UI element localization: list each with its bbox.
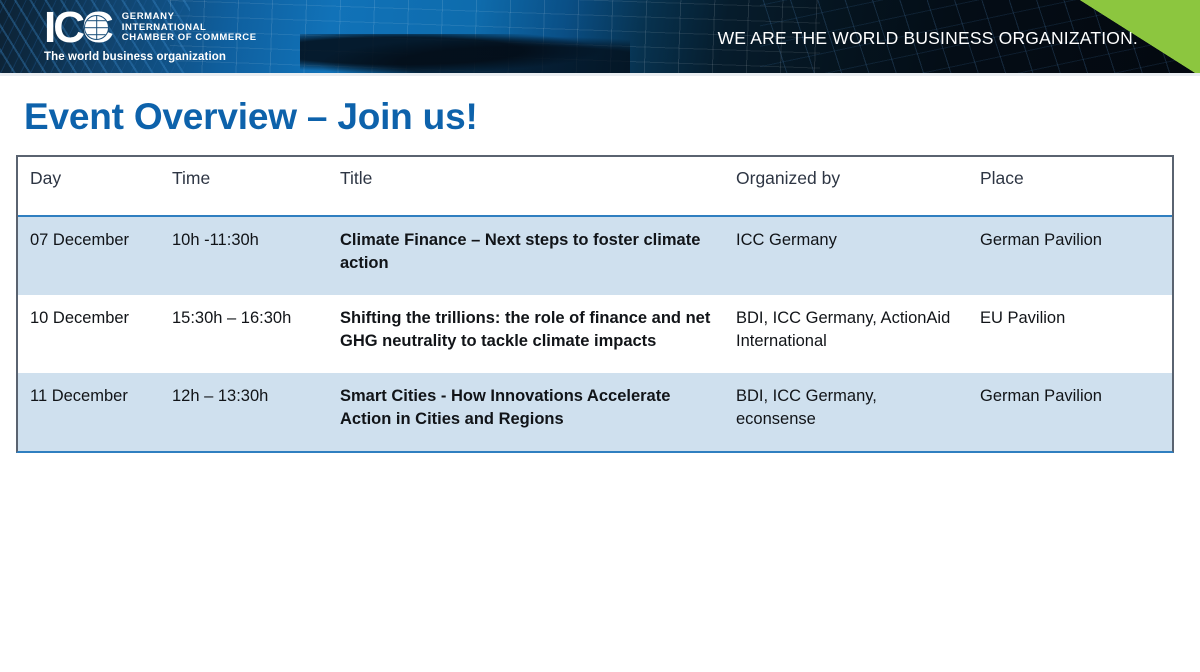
cell-title: Smart Cities - How Innovations Accelerat… <box>328 373 724 451</box>
cell-day: 07 December <box>18 216 160 295</box>
table-row: 10 December 15:30h – 16:30h Shifting the… <box>18 295 1172 373</box>
logo-subtitle-block: GERMANY INTERNATIONAL CHAMBER OF COMMERC… <box>122 12 257 44</box>
cell-day: 11 December <box>18 373 160 451</box>
cell-time: 12h – 13:30h <box>160 373 328 451</box>
table-row: 11 December 12h – 13:30h Smart Cities - … <box>18 373 1172 451</box>
cell-time: 15:30h – 16:30h <box>160 295 328 373</box>
page-title: Event Overview – Join us! <box>24 96 478 138</box>
cell-organized-by: BDI, ICC Germany, ActionAid Internationa… <box>724 295 968 373</box>
column-header-title: Title <box>328 157 724 216</box>
cell-title: Shifting the trillions: the role of fina… <box>328 295 724 373</box>
column-header-time: Time <box>160 157 328 216</box>
cell-place: EU Pavilion <box>968 295 1172 373</box>
table-body: 07 December 10h -11:30h Climate Finance … <box>18 216 1172 451</box>
cell-organized-by: BDI, ICC Germany, econsense <box>724 373 968 451</box>
logo-tagline: The world business organization <box>44 51 257 63</box>
cell-place: German Pavilion <box>968 373 1172 451</box>
table-header-row: Day Time Title Organized by Place <box>18 157 1172 216</box>
event-overview-table: Day Time Title Organized by Place 07 Dec… <box>16 155 1174 453</box>
logo-line-chamber: CHAMBER OF COMMERCE <box>122 33 257 44</box>
slide-banner: ICC GERMANY INTERNATIONAL CHAMBER OF COM… <box>0 0 1200 76</box>
cell-title: Climate Finance – Next steps to foster c… <box>328 216 724 295</box>
column-header-day: Day <box>18 157 160 216</box>
logo-line-germany: GERMANY <box>122 12 257 23</box>
table-head: Day Time Title Organized by Place <box>18 157 1172 216</box>
column-header-organized-by: Organized by <box>724 157 968 216</box>
events-table: Day Time Title Organized by Place 07 Dec… <box>18 157 1172 451</box>
column-header-place: Place <box>968 157 1172 216</box>
banner-slogan: WE ARE THE WORLD BUSINESS ORGANIZATION. <box>718 28 1138 49</box>
logo-top-row: ICC GERMANY INTERNATIONAL CHAMBER OF COM… <box>44 8 257 48</box>
cell-organized-by: ICC Germany <box>724 216 968 295</box>
icc-germany-logo: ICC GERMANY INTERNATIONAL CHAMBER OF COM… <box>44 8 257 68</box>
cell-time: 10h -11:30h <box>160 216 328 295</box>
banner-underline <box>0 73 1200 76</box>
table-row: 07 December 10h -11:30h Climate Finance … <box>18 216 1172 295</box>
cell-place: German Pavilion <box>968 216 1172 295</box>
cell-day: 10 December <box>18 295 160 373</box>
globe-icon <box>84 15 109 40</box>
icc-wordmark: ICC <box>44 8 111 48</box>
banner-shadow-shapes <box>300 34 630 76</box>
